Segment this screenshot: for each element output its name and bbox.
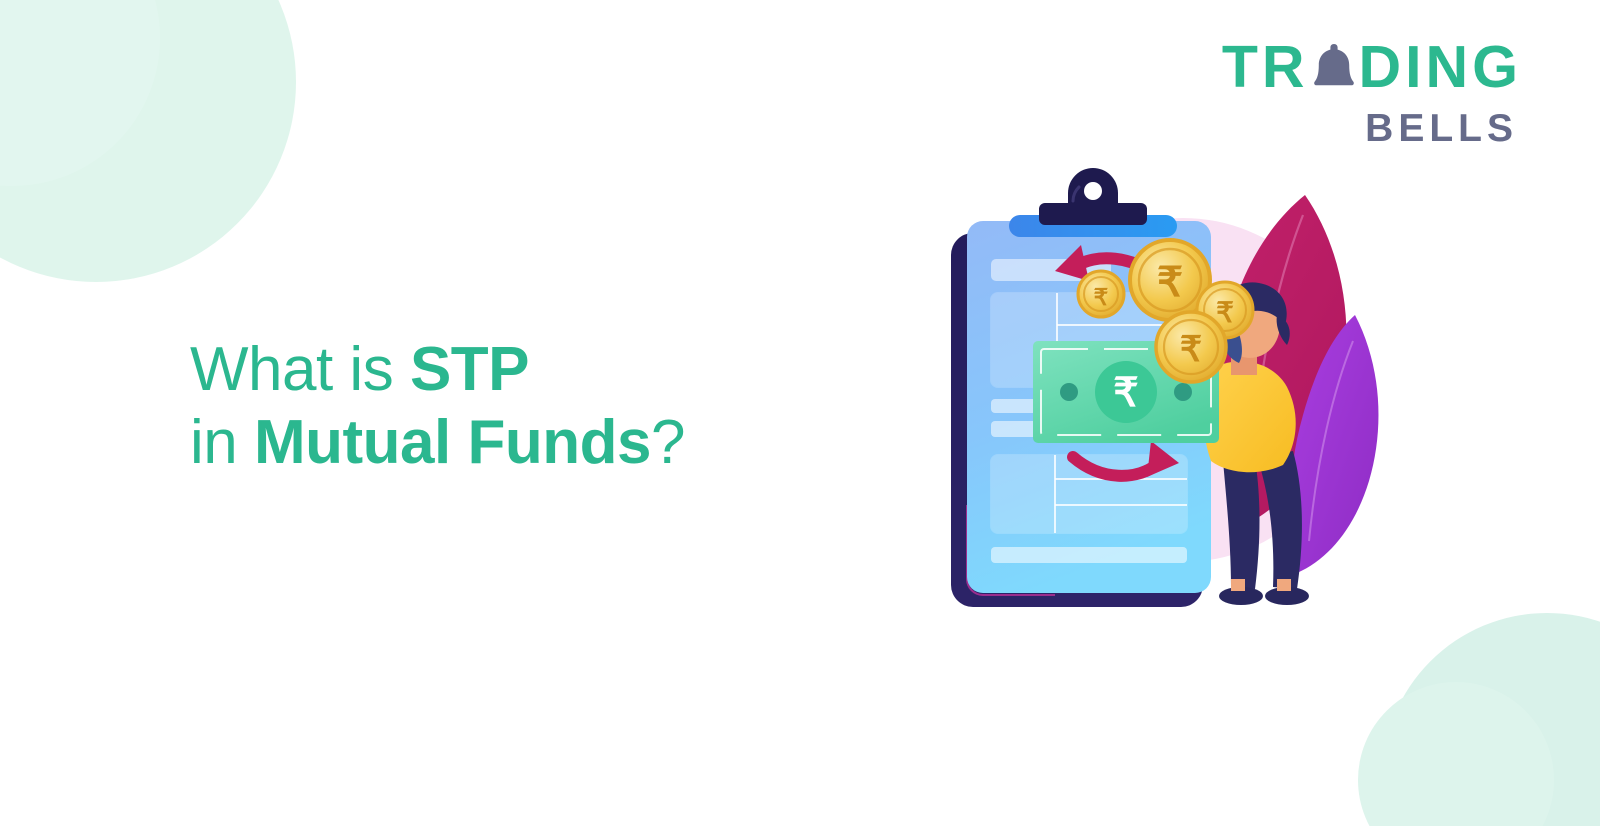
svg-text:₹: ₹: [1157, 259, 1183, 305]
rupee-coin-small-left: ₹: [1078, 271, 1124, 317]
page-title: What is STP in Mutual Funds?: [190, 334, 685, 479]
svg-text:₹: ₹: [1094, 284, 1109, 310]
headline-line-2: in Mutual Funds?: [190, 407, 685, 480]
mint-circle-bottom-right-back: [1382, 613, 1600, 826]
banknote-rupee-symbol: ₹: [1113, 371, 1138, 415]
headline-line2-bold: Mutual Funds: [254, 408, 651, 477]
svg-text:₹: ₹: [1180, 330, 1202, 369]
mint-circle-top-left-back: [0, 0, 296, 282]
brand-logo: TR DING BELLS: [1222, 38, 1522, 148]
headline-question-mark: ?: [651, 408, 685, 477]
logo-text-ding: DING: [1359, 38, 1523, 97]
logo-text-tr: TR: [1222, 38, 1309, 97]
bell-icon: [1310, 41, 1358, 99]
stp-mutual-funds-illustration: ₹ ₹ ₹ ₹ ₹: [905, 175, 1405, 635]
headline-line1-regular: What is: [190, 335, 410, 404]
clipboard-clip: [1039, 168, 1147, 225]
headline-line2-regular: in: [190, 408, 254, 477]
mint-circle-bottom-right-front: [1358, 682, 1554, 826]
rupee-coin-medium: ₹: [1156, 312, 1226, 382]
mint-circle-top-left-front: [0, 0, 160, 186]
headline-line1-bold: STP: [410, 335, 529, 404]
headline-line-1: What is STP: [190, 334, 685, 407]
logo-wordmark-trading: TR DING: [1222, 38, 1522, 97]
logo-wordmark-bells: BELLS: [1222, 109, 1518, 148]
